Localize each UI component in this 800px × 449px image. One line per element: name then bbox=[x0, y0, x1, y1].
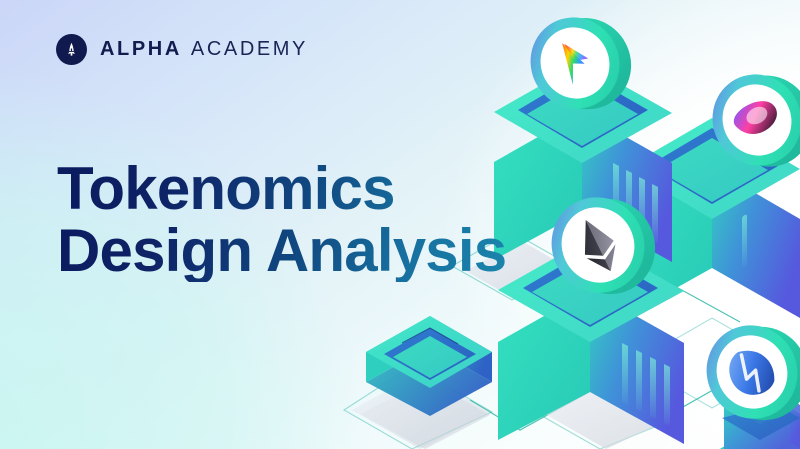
coin-ethereum bbox=[536, 178, 671, 314]
connector-wires bbox=[470, 218, 740, 430]
brand-logo[interactable]: ALPHA ACADEMY bbox=[56, 34, 308, 65]
block-right-lower bbox=[706, 394, 800, 449]
block-top-center bbox=[494, 62, 672, 262]
block-bottom-left bbox=[360, 316, 492, 449]
block-bars bbox=[622, 343, 670, 426]
title-line-1: Tokenomics bbox=[57, 158, 506, 220]
ghost-plate-fill bbox=[545, 384, 668, 449]
pink-token-icon bbox=[729, 94, 782, 142]
coin-rainbow bbox=[515, 0, 648, 130]
coin-pink bbox=[697, 55, 800, 187]
ghost-plate bbox=[634, 318, 790, 408]
brand-wordmark: ALPHA ACADEMY bbox=[100, 38, 308, 61]
block-right-upper bbox=[626, 118, 800, 318]
block-bars bbox=[613, 163, 658, 244]
ethereum-icon bbox=[571, 213, 625, 278]
flat-block-shadow bbox=[360, 380, 490, 449]
title-line-2: Design Analysis bbox=[57, 220, 506, 282]
brand-name-primary: ALPHA bbox=[100, 38, 182, 61]
brand-name-secondary: ACADEMY bbox=[191, 38, 308, 61]
blue-token-icon bbox=[722, 342, 781, 403]
block-mid-center bbox=[498, 238, 684, 444]
coin-blue bbox=[691, 306, 800, 439]
promo-banner: ALPHA ACADEMY Tokenomics Design Analysis bbox=[0, 0, 800, 449]
ghost-plate bbox=[344, 366, 492, 449]
ghost-plate bbox=[535, 378, 672, 449]
page-title: Tokenomics Design Analysis bbox=[57, 158, 506, 282]
rainbow-token-icon bbox=[553, 38, 590, 84]
ghost-plate-fill bbox=[352, 372, 490, 449]
alpha-monogram-icon bbox=[56, 34, 87, 65]
